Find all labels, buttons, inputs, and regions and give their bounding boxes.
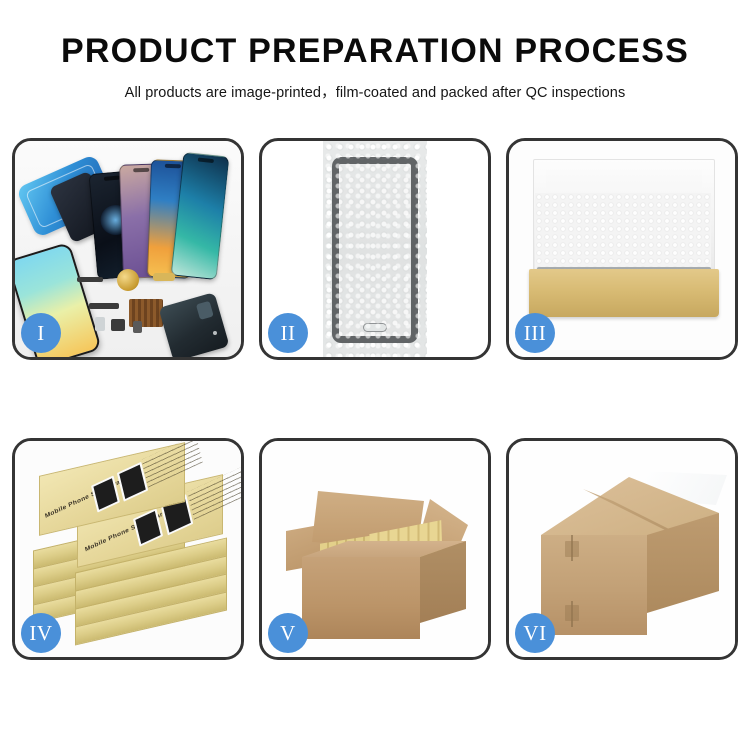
carton-front [541,535,647,635]
notch-icon [104,175,120,180]
phone-backplate [158,292,229,357]
kraft-inner-box [529,269,719,317]
product-preparation-infographic: PRODUCT PREPARATION PROCESS All products… [0,0,750,750]
part-coil [117,269,139,291]
step-badge-5: V [268,613,308,653]
notch-icon [198,157,214,163]
phone-fan-group [93,153,238,278]
open-shipping-carton [284,483,466,643]
box-stack: Mobile Phone Spare Parts Mobile Phone Sp… [25,459,237,645]
carton-tab [565,605,579,621]
step-badge-4: IV [21,613,61,653]
foam-sheet [535,193,711,271]
step-panel-1: I [12,138,244,360]
step-badge-6: VI [515,613,555,653]
wrapped-screen [332,157,418,343]
notch-icon [165,164,181,169]
page-subtitle: All products are image-printed，film-coat… [0,81,750,102]
steps-grid: I II III [12,138,738,660]
notch-icon [133,168,149,173]
box-spec-lines [187,467,241,520]
carton-front [302,557,420,639]
step-panel-5: V [259,438,491,660]
step-panel-4: Mobile Phone Spare Parts Mobile Phone Sp… [12,438,244,660]
part-connector [77,277,103,282]
step-panel-3: III [506,138,738,360]
home-button [363,323,387,332]
sealed-shipping-carton [525,471,721,637]
page-title: PRODUCT PREPARATION PROCESS [0,34,750,68]
bubble-wrap-sheet [323,141,427,357]
step-panel-2: II [259,138,491,360]
part-battery [133,321,142,333]
part-ribbon [89,303,119,309]
part-screw [213,331,217,335]
part-speaker [111,319,125,331]
step-badge-2: II [268,313,308,353]
spare-parts-group [77,269,227,357]
step-panel-6: VI [506,438,738,660]
header: PRODUCT PREPARATION PROCESS All products… [0,0,750,102]
part-flex-cable [153,273,175,281]
step-badge-3: III [515,313,555,353]
carton-tab [565,541,579,557]
step-badge-1: I [21,313,61,353]
part-camera [95,317,105,331]
